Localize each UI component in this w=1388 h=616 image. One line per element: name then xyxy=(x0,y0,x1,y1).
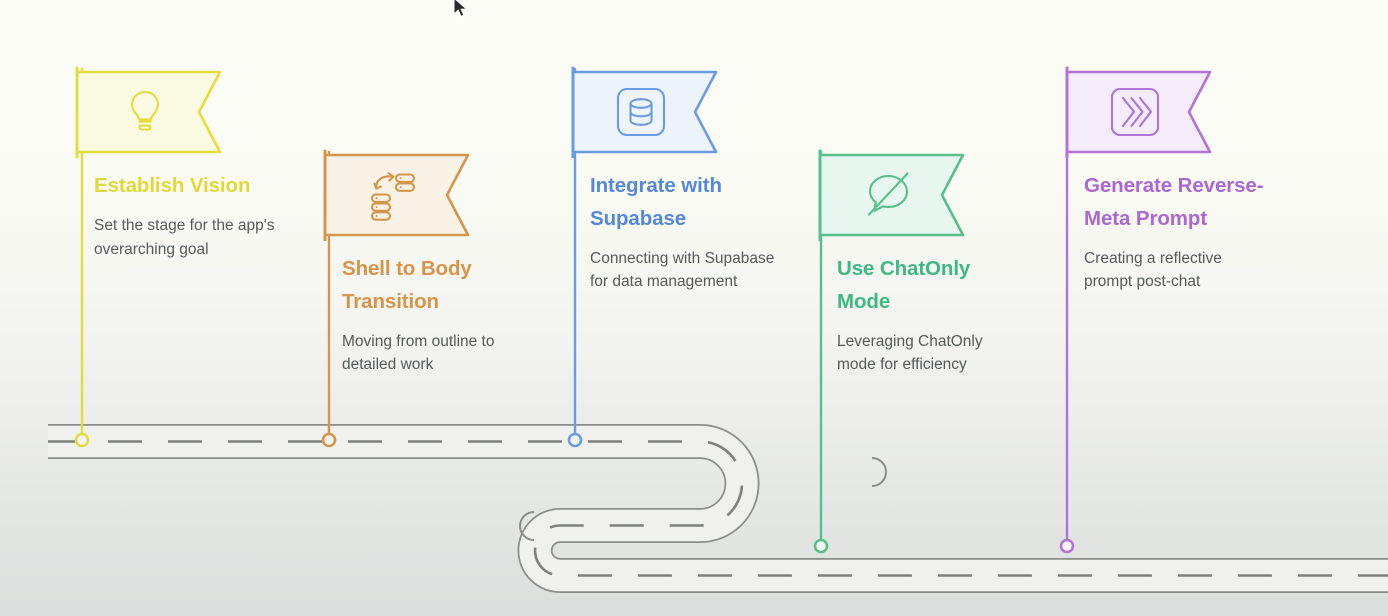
milestone-title: Establish Vision xyxy=(94,170,276,203)
milestone-generate-reverse-meta-prompt[interactable]: Generate Reverse-Meta PromptCreating a r… xyxy=(1062,62,1262,294)
milestone-title: Use ChatOnly Mode xyxy=(837,253,1019,319)
milestone-list: Establish VisionSet the stage for the ap… xyxy=(0,0,1388,616)
milestone-flag xyxy=(1062,62,1262,158)
lightbulb-icon xyxy=(119,86,171,143)
milestone-shell-to-body-transition[interactable]: Shell to Body TransitionMoving from outl… xyxy=(320,145,520,377)
milestone-description: Creating a reflective prompt post-chat xyxy=(1084,247,1270,295)
chat-disabled-icon xyxy=(862,169,914,226)
milestone-flag xyxy=(568,62,768,158)
data-transfer-icon xyxy=(367,169,419,226)
database-icon xyxy=(615,86,667,143)
chevrons-icon xyxy=(1109,86,1161,143)
milestone-flag xyxy=(815,145,1015,241)
milestone-description: Set the stage for the app's overarching … xyxy=(94,214,280,262)
milestone-title: Generate Reverse-Meta Prompt xyxy=(1084,170,1266,236)
milestone-title: Integrate with Supabase xyxy=(590,170,772,236)
milestone-flag xyxy=(72,62,272,158)
milestone-description: Leveraging ChatOnly mode for efficiency xyxy=(837,330,1023,378)
milestone-title: Shell to Body Transition xyxy=(342,253,524,319)
milestone-use-chatonly-mode[interactable]: Use ChatOnly ModeLeveraging ChatOnly mod… xyxy=(815,145,1015,377)
milestone-establish-vision[interactable]: Establish VisionSet the stage for the ap… xyxy=(72,62,272,262)
milestone-description: Moving from outline to detailed work xyxy=(342,330,528,378)
milestone-flag xyxy=(320,145,520,241)
roadmap-canvas: Establish VisionSet the stage for the ap… xyxy=(0,0,1388,616)
milestone-description: Connecting with Supabase for data manage… xyxy=(590,247,776,295)
milestone-integrate-with-supabase[interactable]: Integrate with SupabaseConnecting with S… xyxy=(568,62,768,294)
